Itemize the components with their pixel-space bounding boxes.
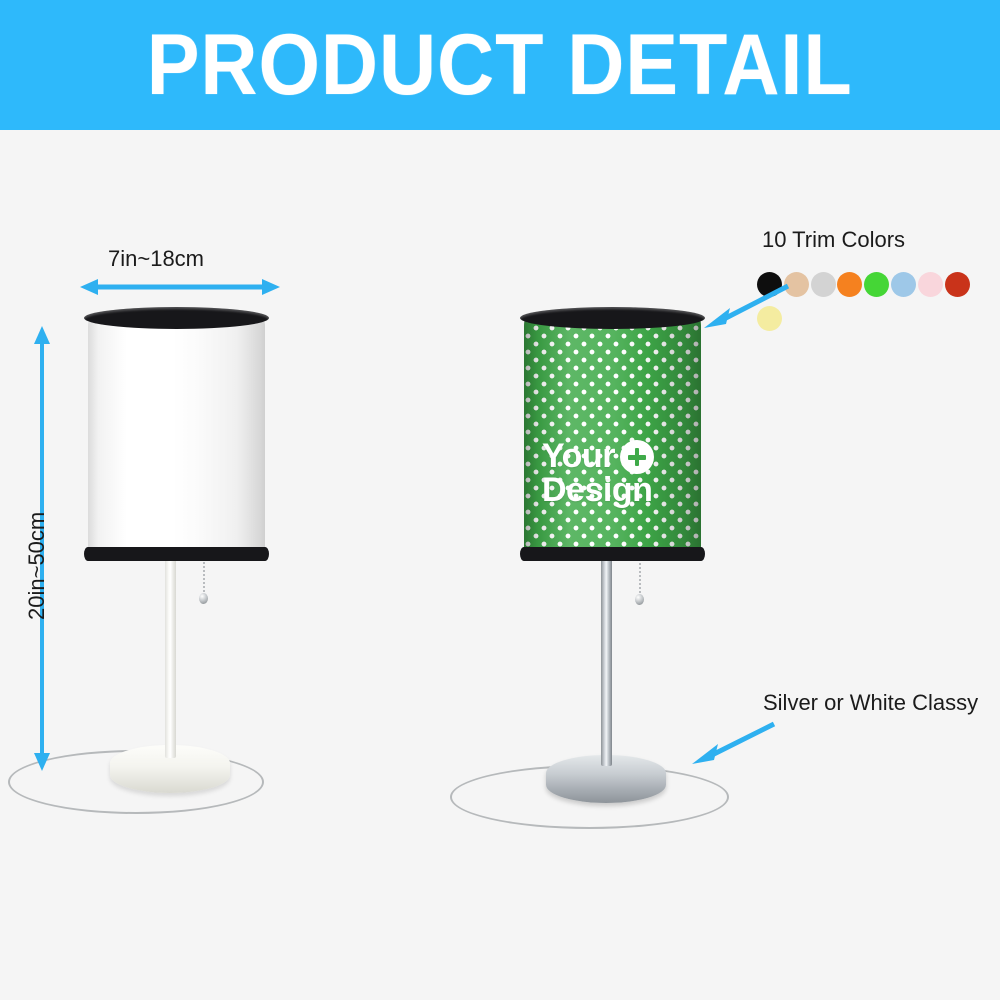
shade-caption-line-1: Your: [542, 440, 615, 473]
trim-colors-callout-arrow: [700, 282, 792, 330]
green-lamp-pole: [601, 554, 612, 766]
height-dimension-label: 20in~50cm: [24, 512, 50, 620]
base-finish-callout-arrow: [690, 720, 778, 766]
trim-swatch-pink[interactable]: [918, 272, 943, 297]
product-illustration-stage: 7in~18cm 20in~50cm Your De: [0, 130, 1000, 1000]
green-lamp-pull-chain-ball[interactable]: [635, 594, 644, 605]
green-shade-top-trim: [520, 307, 705, 329]
trim-swatch-green[interactable]: [864, 272, 889, 297]
trim-colors-title: 10 Trim Colors: [762, 227, 905, 253]
white-lamp-shade: [88, 316, 265, 556]
trim-swatch-orange[interactable]: [837, 272, 862, 297]
base-finish-callout-label: Silver or White Classy: [763, 690, 978, 716]
white-shade-top-trim: [84, 307, 269, 329]
white-lamp-pole: [165, 553, 176, 758]
trim-swatch-dark-red[interactable]: [945, 272, 970, 297]
header-banner: PRODUCT DETAIL: [0, 0, 1000, 130]
width-dimension-arrow: [80, 275, 280, 299]
green-lamp-shade: Your Design: [524, 316, 701, 556]
white-lamp-pull-chain-ball[interactable]: [199, 593, 208, 604]
page-title: PRODUCT DETAIL: [147, 22, 853, 108]
trim-swatch-light-gray[interactable]: [811, 272, 836, 297]
shade-custom-design-caption: Your Design: [542, 440, 654, 507]
white-shade-bottom-trim: [84, 547, 269, 561]
trim-swatch-light-blue[interactable]: [891, 272, 916, 297]
width-dimension-label: 7in~18cm: [108, 246, 204, 272]
green-shade-bottom-trim: [520, 547, 705, 561]
white-shade-surface: [88, 316, 265, 556]
green-shade-surface: [524, 316, 701, 556]
plus-circle-icon: [620, 440, 654, 474]
shade-caption-line-2: Design: [542, 474, 652, 507]
green-lamp-pull-chain[interactable]: [639, 555, 641, 597]
